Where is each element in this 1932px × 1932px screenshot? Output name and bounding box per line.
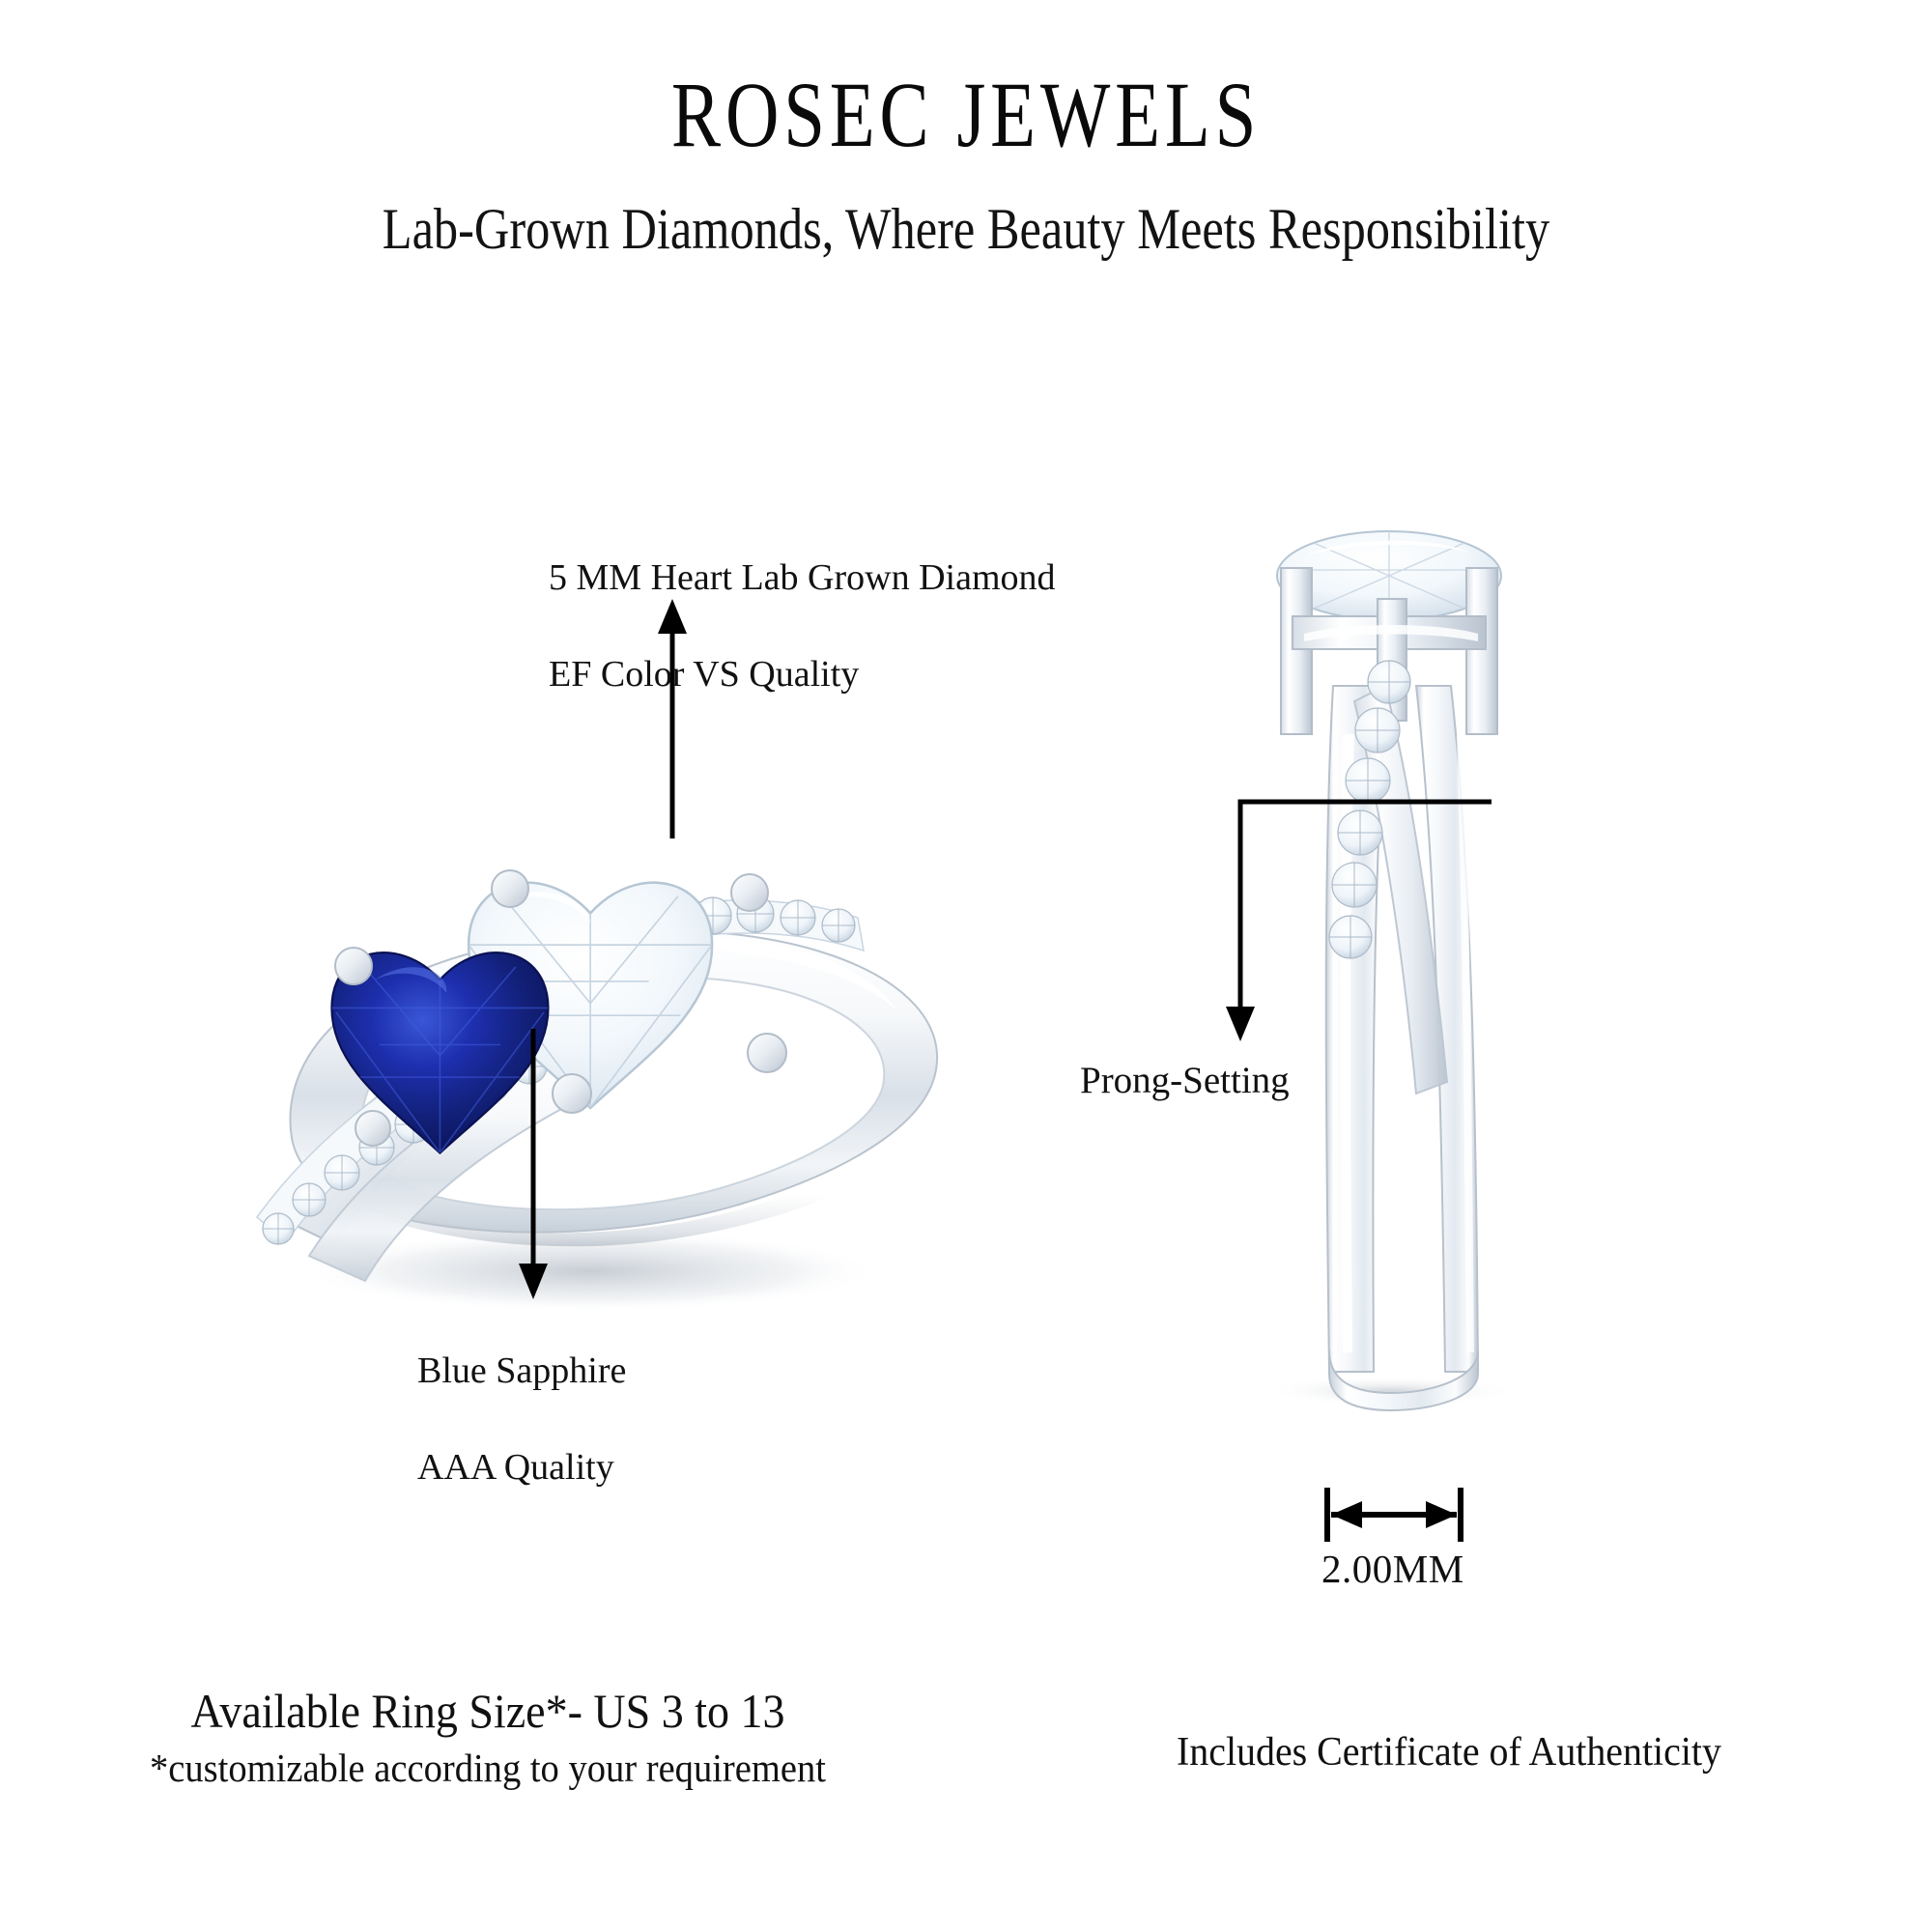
accent-stone-line2: AAA Quality <box>417 1447 614 1488</box>
ring-size-block: Available Ring Size*- US 3 to 13 *custom… <box>0 1683 976 1792</box>
accent-stone-line1: Blue Sapphire <box>417 1350 626 1391</box>
dimension-double-arrow-icon <box>1321 1482 1466 1549</box>
band-width-dimension <box>1321 1482 1466 1549</box>
accent-stone-annotation: Blue Sapphire AAA Quality <box>417 1298 626 1492</box>
ring-main-illustration <box>174 734 1053 1352</box>
elbow-down-arrow-icon <box>1215 796 1495 1047</box>
ring-size-line: Available Ring Size*- US 3 to 13 <box>39 1683 936 1740</box>
accent-stone-leader <box>510 1029 556 1301</box>
side-shank <box>1326 686 1478 1410</box>
center-stone-line2: EF Color VS Quality <box>549 654 859 695</box>
prong-setting-label: Prong-Setting <box>1080 1056 1290 1105</box>
brand-title: ROSEC JEWELS <box>193 68 1739 162</box>
band-width-label: 2.00MM <box>1321 1546 1464 1592</box>
prong-setting-leader <box>1215 796 1495 1047</box>
center-stone-line1: 5 MM Heart Lab Grown Diamond <box>549 557 1056 598</box>
infographic-canvas: ROSEC JEWELS Lab-Grown Diamonds, Where B… <box>0 0 1932 1932</box>
certificate-note: Includes Certificate of Authenticity <box>1037 1729 1862 1776</box>
customizable-note: *customizable according to your requirem… <box>29 1744 946 1792</box>
brand-tagline: Lab-Grown Diamonds, Where Beauty Meets R… <box>155 199 1777 260</box>
ring-main-view <box>174 734 1053 1352</box>
center-stone-annotation: 5 MM Heart Lab Grown Diamond EF Color VS… <box>549 505 1056 699</box>
down-arrow-icon <box>510 1029 556 1301</box>
